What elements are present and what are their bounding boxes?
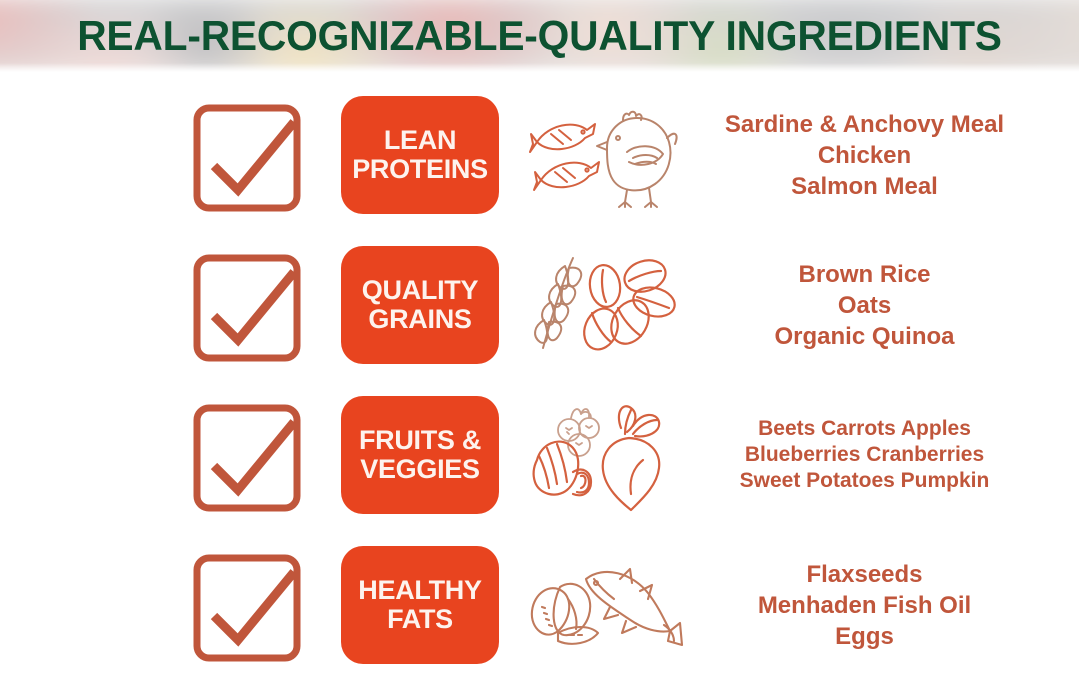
badge-cell: QUALITY GRAINS — [330, 246, 510, 364]
badge-line: FATS — [358, 605, 481, 634]
ingredient-line: Oats — [838, 290, 891, 321]
food-icon-cell — [510, 250, 690, 360]
ingredient-row: FRUITS & VEGGIES — [0, 392, 1079, 518]
grain-stalk-and-kernels-icon — [529, 250, 679, 360]
checkbox-cell — [0, 244, 330, 366]
checkmark-box-icon — [190, 544, 308, 666]
badge-line: HEALTHY — [358, 576, 481, 605]
category-badge: LEAN PROTEINS — [341, 96, 499, 214]
ingredient-text-cell: Beets Carrots Apples Blueberries Cranber… — [690, 416, 1079, 494]
food-icon-cell — [510, 549, 690, 661]
ingredients-infographic: REAL-RECOGNIZABLE-QUALITY INGREDIENTS LE… — [0, 0, 1079, 682]
badge-line: QUALITY — [362, 276, 478, 305]
page-title: REAL-RECOGNIZABLE-QUALITY INGREDIENTS — [16, 4, 1063, 68]
badge-line: FRUITS & — [359, 426, 481, 455]
badge-cell: FRUITS & VEGGIES — [330, 396, 510, 514]
badge-line: LEAN — [352, 126, 488, 155]
ingredient-line: Organic Quinoa — [774, 321, 954, 352]
ingredient-line: Menhaden Fish Oil — [758, 590, 971, 621]
fish-and-chicken-icon — [529, 100, 679, 210]
ingredient-row: HEALTHY FATS — [0, 542, 1079, 668]
food-icon-cell — [510, 100, 690, 210]
badge-cell: LEAN PROTEINS — [330, 96, 510, 214]
ingredient-line: Blueberries Cranberries — [745, 442, 984, 468]
ingredient-line: Brown Rice — [798, 259, 930, 290]
badge-line: GRAINS — [362, 305, 478, 334]
category-badge: HEALTHY FATS — [341, 546, 499, 664]
ingredient-row: QUALITY GRAINS — [0, 242, 1079, 368]
ingredient-row: LEAN PROTEINS — [0, 92, 1079, 218]
checkbox-cell — [0, 394, 330, 516]
checkmark-box-icon — [190, 394, 308, 516]
ingredient-text-cell: Brown Rice Oats Organic Quinoa — [690, 259, 1079, 352]
checkmark-box-icon — [190, 94, 308, 216]
ingredient-rows: LEAN PROTEINS — [0, 72, 1079, 682]
header-banner: REAL-RECOGNIZABLE-QUALITY INGREDIENTS — [0, 0, 1079, 72]
badge-line: VEGGIES — [359, 455, 481, 484]
ingredient-line: Beets Carrots Apples — [758, 416, 971, 442]
ingredient-line: Eggs — [835, 621, 894, 652]
sweet-potato-berries-beet-icon — [529, 398, 679, 513]
checkbox-cell — [0, 94, 330, 216]
checkmark-box-icon — [190, 244, 308, 366]
category-badge: FRUITS & VEGGIES — [341, 396, 499, 514]
ingredient-line: Flaxseeds — [806, 559, 922, 590]
ingredient-text-cell: Sardine & Anchovy Meal Chicken Salmon Me… — [690, 109, 1079, 202]
ingredient-line: Salmon Meal — [791, 171, 938, 202]
ingredient-line: Sweet Potatoes Pumpkin — [740, 468, 990, 494]
ingredient-line: Chicken — [818, 140, 911, 171]
checkbox-cell — [0, 544, 330, 666]
food-icon-cell — [510, 398, 690, 513]
ingredient-text-cell: Flaxseeds Menhaden Fish Oil Eggs — [690, 559, 1079, 652]
flaxseeds-and-fish-icon — [524, 549, 684, 661]
badge-line: PROTEINS — [352, 155, 488, 184]
header-bottom-fade — [0, 63, 1079, 72]
badge-cell: HEALTHY FATS — [330, 546, 510, 664]
category-badge: QUALITY GRAINS — [341, 246, 499, 364]
ingredient-line: Sardine & Anchovy Meal — [725, 109, 1004, 140]
